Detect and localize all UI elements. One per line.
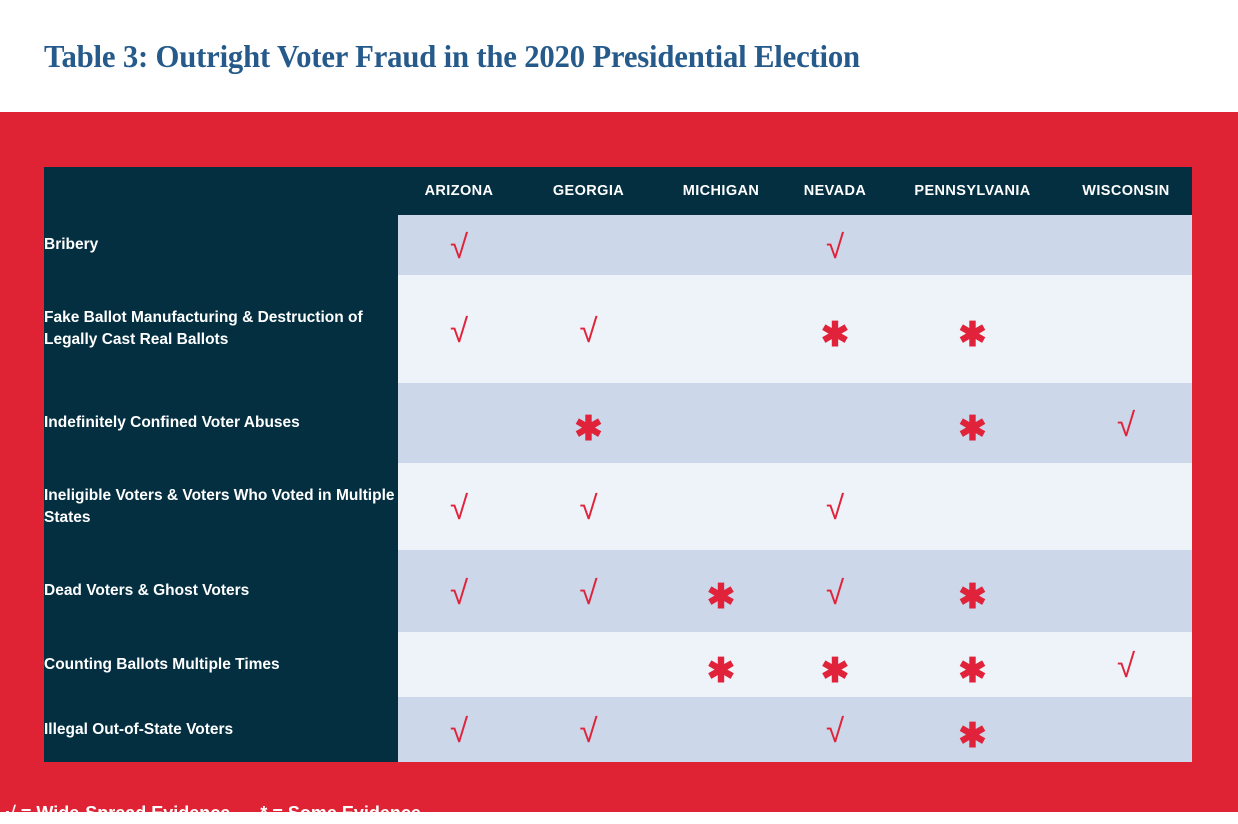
cell-pennsylvania: ✱	[885, 550, 1060, 632]
cell-pennsylvania	[885, 215, 1060, 275]
cell-michigan	[657, 383, 785, 463]
cell-arizona: √	[398, 463, 520, 550]
cell-wisconsin: √	[1060, 383, 1192, 463]
star-icon: ✱	[958, 318, 987, 352]
star-icon: ✱	[574, 412, 603, 446]
table-row: Bribery√√	[44, 215, 1192, 275]
check-icon: √	[1117, 408, 1135, 441]
cell-nevada: √	[785, 463, 885, 550]
star-icon: ✱	[958, 580, 987, 614]
table-body: Bribery√√Fake Ballot Manufacturing & Des…	[44, 215, 1192, 762]
cell-arizona	[398, 383, 520, 463]
table-row: Ineligible Voters & Voters Who Voted in …	[44, 463, 1192, 550]
cell-michigan	[657, 275, 785, 383]
legend-label-some: = Some Evidence	[267, 803, 421, 823]
cell-wisconsin	[1060, 275, 1192, 383]
star-icon: ✱	[821, 654, 850, 688]
column-header-nevada: NEVADA	[785, 167, 885, 215]
check-icon: √	[826, 491, 844, 524]
table-row: Dead Voters & Ghost Voters√√✱√✱	[44, 550, 1192, 632]
cell-michigan: ✱	[657, 550, 785, 632]
cell-pennsylvania: ✱	[885, 383, 1060, 463]
row-label: Bribery	[44, 215, 398, 275]
cell-pennsylvania: ✱	[885, 632, 1060, 697]
check-icon: √	[450, 230, 468, 263]
cell-pennsylvania: ✱	[885, 697, 1060, 762]
cell-pennsylvania: ✱	[885, 275, 1060, 383]
cell-georgia: √	[520, 697, 657, 762]
check-icon: √	[826, 714, 844, 747]
table-row: Counting Ballots Multiple Times✱✱✱√	[44, 632, 1192, 697]
star-icon: ✱	[958, 654, 987, 688]
cell-michigan: ✱	[657, 632, 785, 697]
check-icon: √	[579, 576, 597, 609]
legend-item-widespread: √ = Wide-Spread Evidence	[6, 803, 230, 824]
check-icon: √	[826, 576, 844, 609]
cell-nevada: √	[785, 215, 885, 275]
header-row: ARIZONA GEORGIA MICHIGAN NEVADA PENNSYLV…	[44, 167, 1192, 215]
column-header-arizona: ARIZONA	[398, 167, 520, 215]
voter-fraud-table: ARIZONA GEORGIA MICHIGAN NEVADA PENNSYLV…	[44, 167, 1192, 762]
title-bar: Table 3: Outright Voter Fraud in the 202…	[0, 0, 1238, 112]
cell-georgia: √	[520, 275, 657, 383]
column-header-michigan: MICHIGAN	[657, 167, 785, 215]
row-label: Illegal Out-of-State Voters	[44, 697, 398, 762]
cell-pennsylvania	[885, 463, 1060, 550]
cell-georgia: ✱	[520, 383, 657, 463]
cell-wisconsin	[1060, 550, 1192, 632]
star-icon: ✱	[707, 580, 736, 614]
row-label: Indefinitely Confined Voter Abuses	[44, 383, 398, 463]
check-icon: √	[1117, 649, 1135, 682]
cell-arizona: √	[398, 550, 520, 632]
cell-michigan	[657, 215, 785, 275]
star-icon: ✱	[821, 318, 850, 352]
cell-wisconsin	[1060, 697, 1192, 762]
table-row: Indefinitely Confined Voter Abuses✱✱√	[44, 383, 1192, 463]
cell-nevada: √	[785, 697, 885, 762]
table-row: Illegal Out-of-State Voters√√√✱	[44, 697, 1192, 762]
row-label: Dead Voters & Ghost Voters	[44, 550, 398, 632]
check-icon: √	[450, 576, 468, 609]
check-icon: √	[450, 491, 468, 524]
cell-michigan	[657, 697, 785, 762]
cell-arizona: √	[398, 697, 520, 762]
table-row: Fake Ballot Manufacturing & Destruction …	[44, 275, 1192, 383]
column-header-pennsylvania: PENNSYLVANIA	[885, 167, 1060, 215]
cell-wisconsin	[1060, 463, 1192, 550]
star-icon: ✱	[707, 654, 736, 688]
red-panel: ARIZONA GEORGIA MICHIGAN NEVADA PENNSYLV…	[0, 112, 1238, 812]
cell-wisconsin	[1060, 215, 1192, 275]
check-icon: √	[579, 314, 597, 347]
cell-nevada: ✱	[785, 632, 885, 697]
column-header-wisconsin: WISCONSIN	[1060, 167, 1192, 215]
check-icon: √	[579, 714, 597, 747]
cell-arizona: √	[398, 215, 520, 275]
row-label: Fake Ballot Manufacturing & Destruction …	[44, 275, 398, 383]
cell-arizona: √	[398, 275, 520, 383]
table-corner-cell	[44, 167, 398, 215]
row-label: Ineligible Voters & Voters Who Voted in …	[44, 463, 398, 550]
column-header-georgia: GEORGIA	[520, 167, 657, 215]
cell-georgia: √	[520, 550, 657, 632]
check-icon: √	[450, 314, 468, 347]
cell-nevada	[785, 383, 885, 463]
star-icon: ✱	[958, 412, 987, 446]
legend-check-icon: √	[6, 803, 16, 823]
page-title: Table 3: Outright Voter Fraud in the 202…	[44, 38, 860, 75]
legend-item-some: * = Some Evidence	[260, 803, 421, 824]
cell-wisconsin: √	[1060, 632, 1192, 697]
cell-nevada: ✱	[785, 275, 885, 383]
star-icon: ✱	[958, 719, 987, 753]
cell-georgia	[520, 215, 657, 275]
cell-georgia: √	[520, 463, 657, 550]
cell-nevada: √	[785, 550, 885, 632]
check-icon: √	[826, 230, 844, 263]
cell-arizona	[398, 632, 520, 697]
legend: √ = Wide-Spread Evidence * = Some Eviden…	[6, 803, 421, 824]
cell-georgia	[520, 632, 657, 697]
check-icon: √	[579, 491, 597, 524]
table-header: ARIZONA GEORGIA MICHIGAN NEVADA PENNSYLV…	[44, 167, 1192, 215]
cell-michigan	[657, 463, 785, 550]
row-label: Counting Ballots Multiple Times	[44, 632, 398, 697]
legend-label-widespread: = Wide-Spread Evidence	[16, 803, 230, 823]
check-icon: √	[450, 714, 468, 747]
